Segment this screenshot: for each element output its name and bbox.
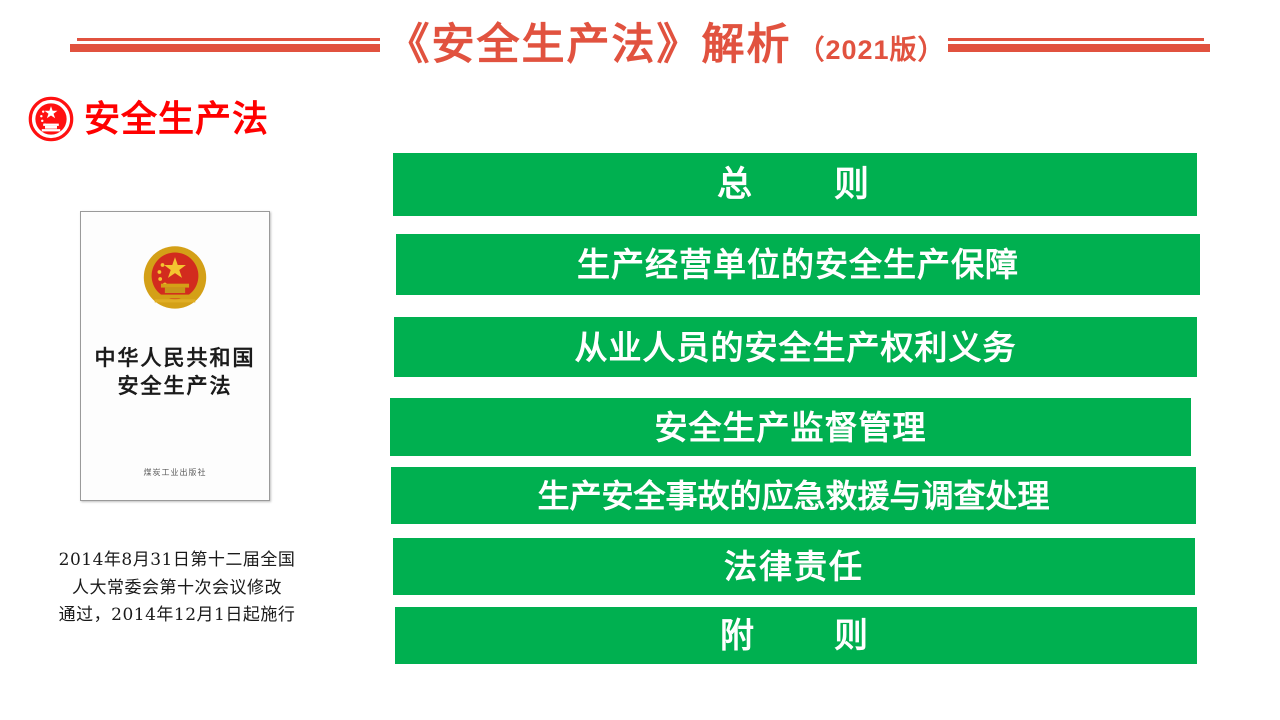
law-caption-line3: 通过，2014年12月1日起施行 — [22, 602, 332, 630]
chapter-bar-label: 总 则 — [717, 167, 873, 202]
title-rule-right — [948, 38, 1210, 52]
title-rule-right-thick — [948, 44, 1210, 52]
title-rule-left — [70, 38, 380, 52]
chapter-bar[interactable]: 生产安全事故的应急救援与调查处理 — [391, 467, 1196, 524]
chapter-bar-label: 生产经营单位的安全生产保障 — [577, 248, 1019, 281]
page-title: 《安全生产法》解析 （2021版） — [386, 24, 945, 67]
chapter-bar[interactable]: 生产经营单位的安全生产保障 — [396, 234, 1200, 295]
chapter-bar-label: 附 则 — [720, 619, 872, 653]
title-rule-right-thin — [948, 38, 1205, 41]
slide-title-bar: 《安全生产法》解析 （2021版） — [0, 14, 1280, 76]
chapter-bar-label: 生产安全事故的应急救援与调查处理 — [537, 480, 1049, 512]
book-cover-title: 中华人民共和国 安全生产法 — [81, 344, 269, 401]
chapter-bar[interactable]: 总 则 — [393, 153, 1197, 216]
title-rule-left-thick — [70, 44, 380, 52]
law-caption: 2014年8月31日第十二届全国 人大常委会第十次会议修改 通过，2014年12… — [22, 547, 332, 630]
title-rule-left-thin — [77, 38, 381, 41]
book-national-emblem-icon — [135, 240, 215, 318]
chapter-bar[interactable]: 法律责任 — [393, 538, 1195, 595]
law-heading: 安全生产法 — [28, 96, 269, 142]
book-cover-title-line1: 中华人民共和国 — [81, 344, 269, 372]
page-title-version: （2021版） — [797, 37, 945, 64]
law-caption-line1: 2014年8月31日第十二届全国 — [22, 547, 332, 575]
chapter-bar-label: 从业人员的安全生产权利义务 — [575, 331, 1017, 364]
left-panel: 安全生产法 中华人民共和国 安全生产法 煤炭工业出版社 2014年8月31日第十… — [0, 88, 360, 648]
chapter-bar[interactable]: 安全生产监督管理 — [390, 398, 1191, 456]
chapter-bar-label: 法律责任 — [724, 550, 864, 583]
law-book-cover-image: 中华人民共和国 安全生产法 煤炭工业出版社 — [80, 211, 270, 501]
chapter-bar[interactable]: 从业人员的安全生产权利义务 — [394, 317, 1197, 377]
law-caption-line2: 人大常委会第十次会议修改 — [22, 575, 332, 603]
page-title-main: 《安全生产法》解析 — [386, 24, 791, 67]
book-cover-title-line2: 安全生产法 — [81, 372, 269, 400]
chapter-bar[interactable]: 附 则 — [395, 607, 1197, 664]
chapter-bar-label: 安全生产监督管理 — [655, 411, 927, 444]
national-emblem-icon — [28, 96, 74, 142]
book-cover-publisher: 煤炭工业出版社 — [81, 467, 269, 478]
law-heading-label: 安全生产法 — [84, 101, 269, 137]
